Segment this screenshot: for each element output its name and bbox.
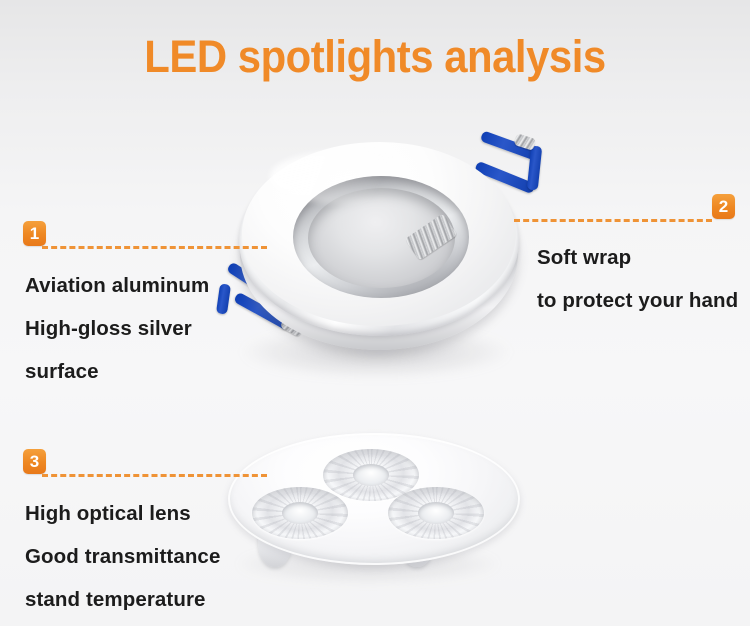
callout-rule-1 [42,246,267,249]
callout-1-line-2: High-gloss silver [25,307,209,350]
callout-badge-2: 2 [712,194,735,219]
product-image-optical-lens [210,425,540,600]
callout-3-line-3: stand temperature [25,578,220,621]
lens-cup-bottom-right [388,487,484,539]
callout-3-line-2: Good transmittance [25,535,220,578]
callout-2-line-2: to protect your hand [537,279,738,322]
product-image-spotlight-ring [218,128,548,393]
infographic-canvas: LED spotlights analysis [0,0,750,626]
ring-specular-highlight [270,150,420,204]
callout-text-3: High optical lens Good transmittance sta… [25,492,220,621]
callout-3-line-1: High optical lens [25,492,220,535]
lens-cup-core [282,502,318,524]
lens-cup-bottom-left [252,487,348,539]
callout-rule-3 [42,474,267,477]
page-title: LED spotlights analysis [26,31,724,83]
callout-badge-3: 3 [23,449,46,474]
callout-rule-2 [514,219,712,222]
callout-text-2: Soft wrap to protect your hand [537,236,738,322]
lens-cup-core [418,502,454,524]
callout-1-line-3: surface [25,350,209,393]
callout-1-line-1: Aviation aluminum [25,264,209,307]
callout-text-1: Aviation aluminum High-gloss silver surf… [25,264,209,393]
lens-cup-core [353,464,389,486]
callout-2-line-1: Soft wrap [537,236,738,279]
callout-badge-1: 1 [23,221,46,246]
